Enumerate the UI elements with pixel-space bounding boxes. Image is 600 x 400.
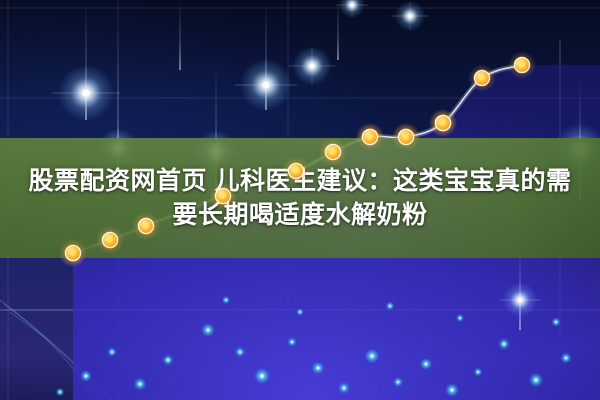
glow-particle xyxy=(52,64,120,121)
light-beam xyxy=(179,0,181,70)
spark-core xyxy=(555,321,557,323)
spark-core xyxy=(459,317,461,319)
headline-line-1: 股票配资网首页 儿科医生建议：这类宝宝真的需 xyxy=(29,164,572,198)
spark-core xyxy=(111,351,113,353)
glow-particle xyxy=(289,46,336,86)
headline-band: 股票配资网首页 儿科医生建议：这类宝宝真的需 要长期喝适度水解奶粉 xyxy=(0,138,600,258)
light-beam xyxy=(337,0,339,60)
spark-core xyxy=(291,341,293,343)
spark-core xyxy=(535,379,538,382)
glow-particle xyxy=(235,59,297,112)
headline-line-2: 要长期喝适度水解奶粉 xyxy=(172,198,427,232)
spark-core xyxy=(85,375,87,377)
spark-core xyxy=(225,299,227,301)
promo-banner: 股票配资网首页 儿科医生建议：这类宝宝真的需 要长期喝适度水解奶粉 xyxy=(0,0,600,400)
spark-core xyxy=(260,374,263,377)
glow-particle xyxy=(336,0,367,18)
spark-core xyxy=(371,355,374,358)
spark-core xyxy=(451,389,454,392)
spark-core xyxy=(59,391,61,393)
spark-core xyxy=(207,329,210,332)
glow-particle xyxy=(392,1,428,32)
glow-particle xyxy=(499,282,541,317)
spark-core xyxy=(477,371,479,373)
spark-core xyxy=(299,311,300,312)
spark-core xyxy=(139,383,141,385)
spark-core xyxy=(565,357,567,359)
spark-core xyxy=(503,343,505,345)
spark-core xyxy=(389,305,391,307)
spark-core xyxy=(343,387,345,389)
spark-core xyxy=(317,367,319,369)
spark-core xyxy=(167,359,169,361)
spark-core xyxy=(425,363,427,365)
spark-core xyxy=(397,381,399,383)
spark-core xyxy=(239,351,241,353)
small-particles xyxy=(56,296,572,397)
